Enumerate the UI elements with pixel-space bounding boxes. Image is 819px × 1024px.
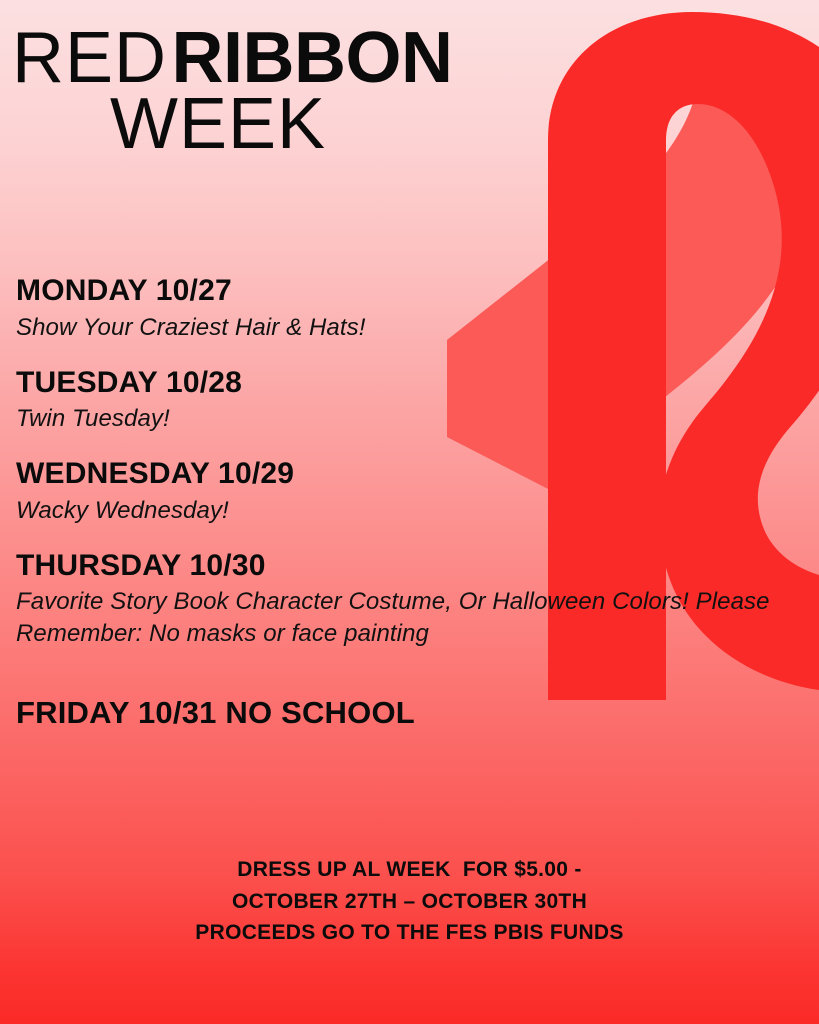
list-item: TUESDAY 10/28 Twin Tuesday! (16, 366, 776, 436)
schedule-list: MONDAY 10/27 Show Your Craziest Hair & H… (16, 274, 776, 751)
footer-line-dates: OCTOBER 27TH – OCTOBER 30TH (0, 886, 819, 918)
list-item: WEDNESDAY 10/29 Wacky Wednesday! (16, 457, 776, 527)
day-label-wednesday: WEDNESDAY 10/29 (16, 457, 776, 491)
footer-note: DRESS UP AL WEEK FOR $5.00 - OCTOBER 27T… (0, 854, 819, 949)
red-ribbon-week-flyer: RED RIBBON WEEK MONDAY 10/27 Show Your C… (0, 0, 819, 1024)
day-activity-thursday: Favorite Story Book Character Costume, O… (16, 586, 776, 650)
footer-line-cost: DRESS UP AL WEEK FOR $5.00 - (0, 854, 819, 886)
list-item: FRIDAY 10/31 NO SCHOOL (16, 696, 776, 731)
day-label-monday: MONDAY 10/27 (16, 274, 776, 308)
title-word-week: WEEK (110, 84, 326, 164)
day-label-friday: FRIDAY 10/31 NO SCHOOL (16, 696, 776, 731)
day-label-tuesday: TUESDAY 10/28 (16, 366, 776, 400)
day-activity-wednesday: Wacky Wednesday! (16, 495, 776, 527)
title-line-two: WEEK (110, 88, 326, 160)
day-label-thursday: THURSDAY 10/30 (16, 549, 776, 583)
day-activity-monday: Show Your Craziest Hair & Hats! (16, 312, 776, 344)
day-activity-tuesday: Twin Tuesday! (16, 403, 776, 435)
footer-line-proceeds: PROCEEDS GO TO THE FES PBIS FUNDS (0, 917, 819, 949)
list-item: THURSDAY 10/30 Favorite Story Book Chara… (16, 549, 776, 650)
list-item: MONDAY 10/27 Show Your Craziest Hair & H… (16, 274, 776, 344)
